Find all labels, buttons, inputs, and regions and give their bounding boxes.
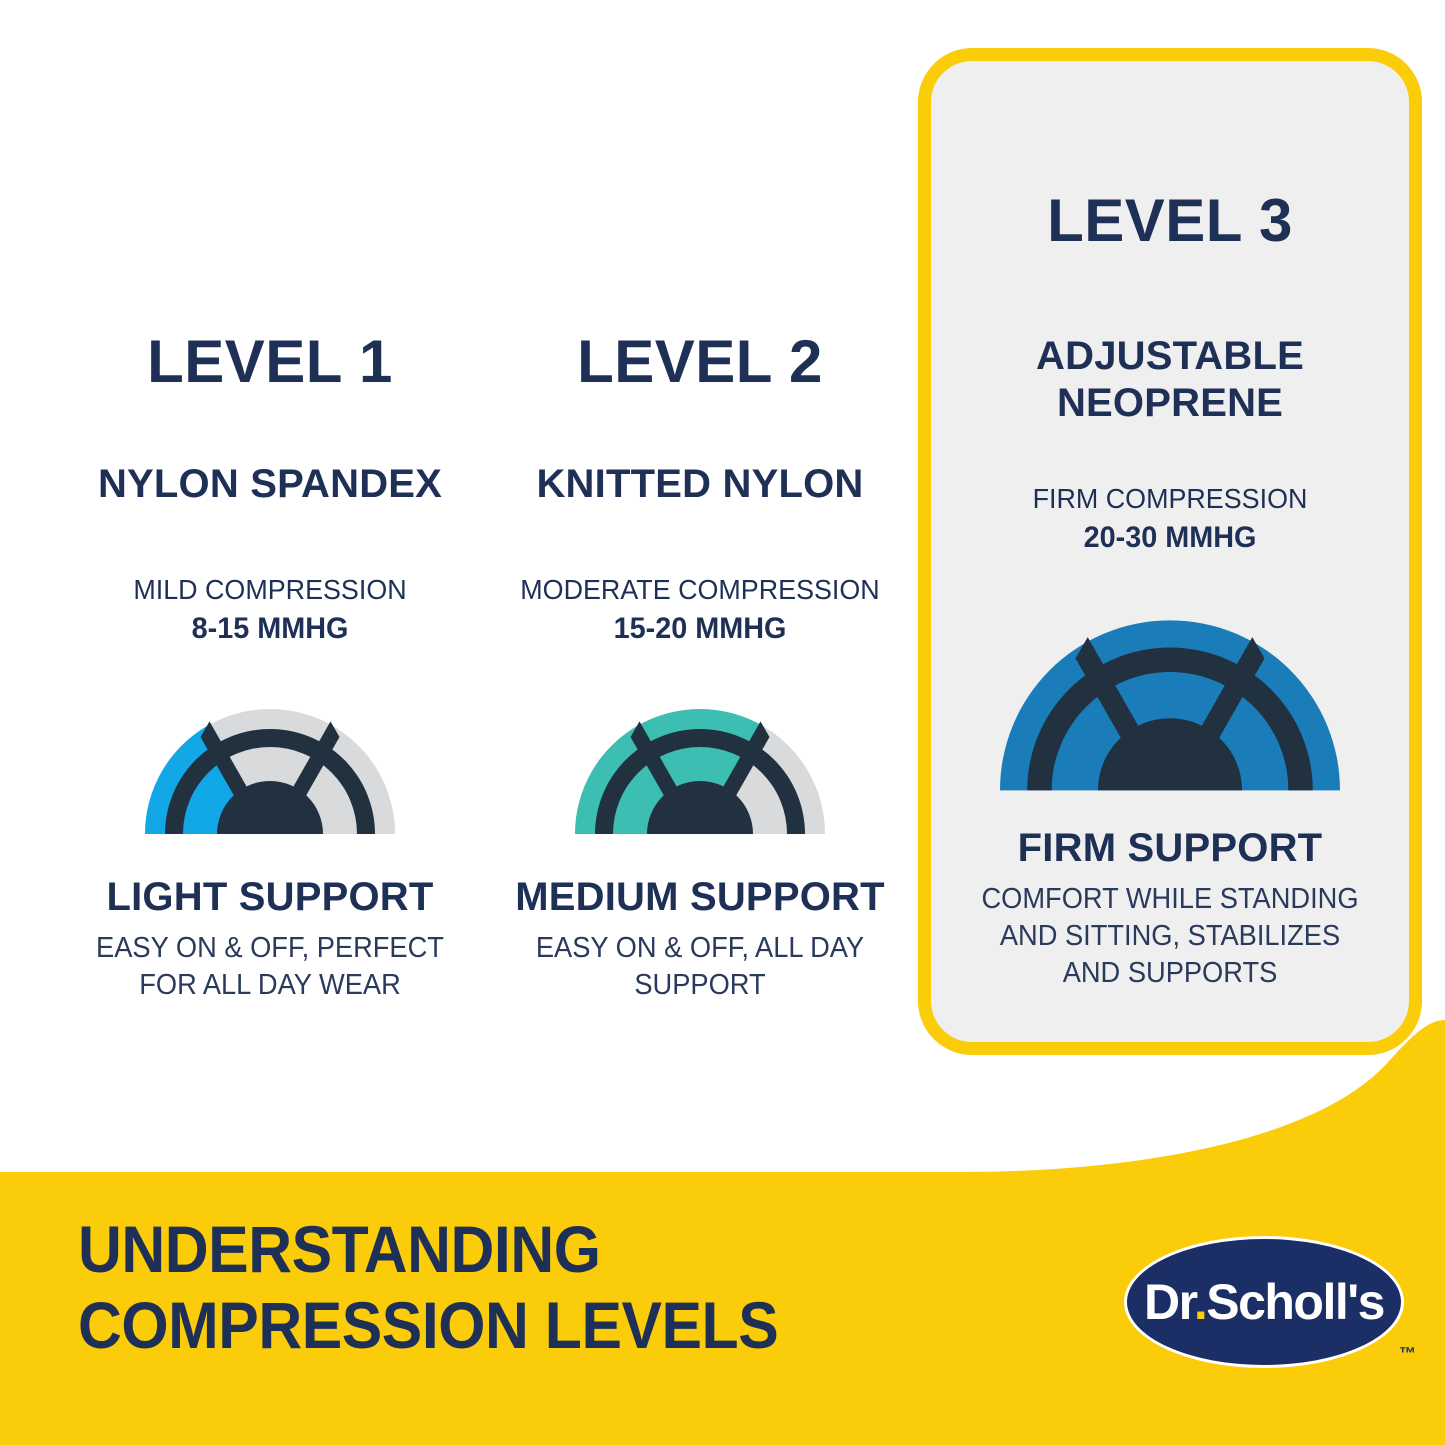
logo-suffix: Scholl's [1206, 1274, 1384, 1330]
logo-prefix: Dr [1144, 1274, 1194, 1330]
compression-label-3: FIRM COMPRESSION [941, 481, 1400, 518]
support-title-1: LIGHT SUPPORT [40, 875, 500, 920]
gauge-wrap-1 [40, 709, 500, 835]
level-compression-2: MODERATE COMPRESSION 15-20 MMHG [479, 572, 921, 649]
banner-title: UNDERSTANDING COMPRESSION LEVELS [78, 1212, 778, 1364]
logo-wordmark: Dr.Scholl's [1124, 1273, 1404, 1331]
level-card-3: LEVEL 3 ADJUSTABLE NEOPRENE FIRM COMPRES… [918, 48, 1422, 1055]
compression-label-1: MILD COMPRESSION [49, 572, 491, 609]
level-material-3: ADJUSTABLE NEOPRENE [931, 333, 1409, 427]
gauge-wrap-3 [931, 620, 1409, 792]
support-title-2: MEDIUM SUPPORT [470, 875, 930, 920]
support-description-2: EASY ON & OFF, ALL DAY SUPPORT [484, 930, 916, 1004]
level-compression-3: FIRM COMPRESSION 20-30 MMHG [941, 481, 1400, 558]
logo-dot: . [1194, 1274, 1206, 1330]
compression-value-2: 15-20 MMHG [479, 609, 921, 649]
level-card-2: LEVEL 2 KNITTED NYLON MODERATE COMPRESSI… [470, 0, 930, 1004]
trademark-icon: ™ [1399, 1344, 1416, 1364]
compression-gauge-3 [1000, 620, 1340, 792]
level-title-1: LEVEL 1 [40, 327, 500, 396]
level-material-1: NYLON SPANDEX [40, 461, 500, 508]
level-title-2: LEVEL 2 [470, 327, 930, 396]
support-title-3: FIRM SUPPORT [931, 826, 1409, 871]
compression-gauge-1 [145, 709, 395, 835]
compression-value-1: 8-15 MMHG [49, 609, 491, 649]
level-card-1: LEVEL 1 NYLON SPANDEX MILD COMPRESSION 8… [40, 0, 500, 1004]
levels-container: LEVEL 1 NYLON SPANDEX MILD COMPRESSION 8… [0, 0, 1445, 1172]
support-description-1: EASY ON & OFF, PERFECT FOR ALL DAY WEAR [54, 930, 486, 1004]
level-compression-1: MILD COMPRESSION 8-15 MMHG [49, 572, 491, 649]
level-material-2: KNITTED NYLON [470, 461, 930, 508]
support-description-3: COMFORT WHILE STANDING AND SITTING, STAB… [945, 881, 1394, 992]
compression-value-3: 20-30 MMHG [941, 518, 1400, 558]
compression-label-2: MODERATE COMPRESSION [479, 572, 921, 609]
infographic-page: UNDERSTANDING COMPRESSION LEVELS Dr.Scho… [0, 0, 1445, 1445]
gauge-wrap-2 [470, 709, 930, 835]
dr-scholls-logo: Dr.Scholl's ™ [1124, 1236, 1404, 1368]
compression-gauge-2 [575, 709, 825, 835]
level-title-3: LEVEL 3 [931, 186, 1409, 255]
